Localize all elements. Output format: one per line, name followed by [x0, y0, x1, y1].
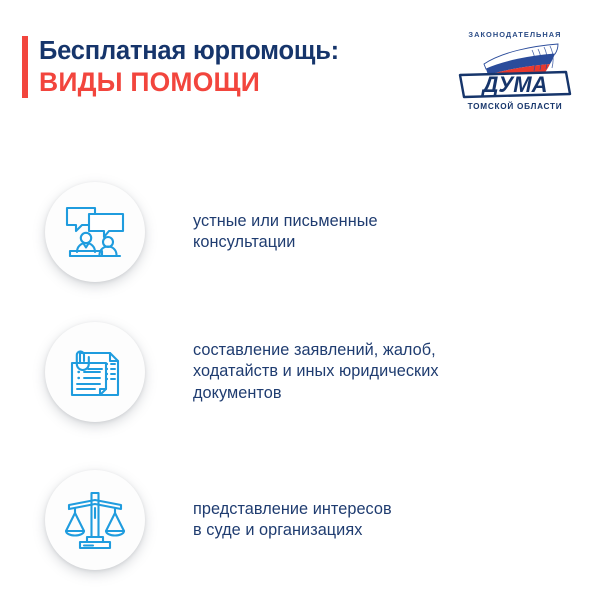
title-line-primary: Бесплатная юрпомощь:: [39, 36, 339, 67]
documents-paperclip-icon: [64, 341, 126, 403]
list-item-line: составление заявлений, жалоб,: [193, 340, 439, 362]
list-item-line: документов: [193, 383, 439, 405]
title-accent-bar: [22, 36, 28, 98]
icon-badge: [45, 470, 145, 570]
logo-wordmark-svg: ДУМА: [454, 42, 576, 100]
list-item-text: составление заявлений, жалоб, ходатайств…: [193, 340, 439, 405]
infographic-poster: Бесплатная юрпомощь: ВИДЫ ПОМОЩИ ЗАКОНОД…: [0, 0, 600, 600]
list-item-line: консультации: [193, 232, 378, 254]
page-title: Бесплатная юрпомощь: ВИДЫ ПОМОЩИ: [22, 36, 339, 98]
duma-wordmark-text: ДУМА: [460, 72, 570, 97]
logo-top-text: ЗАКОНОДАТЕЛЬНАЯ: [454, 30, 576, 40]
duma-logo: ЗАКОНОДАТЕЛЬНАЯ: [454, 30, 576, 122]
list-item-line: представление интересов: [193, 499, 392, 521]
list-item: представление интересов в суде и организ…: [0, 460, 600, 580]
list-item-line: в суде и организациях: [193, 520, 392, 542]
speech-bubbles-people-icon: [63, 200, 127, 264]
list-item: устные или письменные консультации: [0, 172, 600, 292]
icon-badge: [45, 182, 145, 282]
list-item-line: ходатайств и иных юридических: [193, 361, 439, 383]
icon-badge: [45, 322, 145, 422]
list-item-text: представление интересов в суде и организ…: [193, 499, 392, 542]
logo-wordmark-graphic: ДУМА: [454, 42, 576, 100]
list-item: составление заявлений, жалоб, ходатайств…: [0, 312, 600, 432]
logo-bottom-text: ТОМСКОЙ ОБЛАСТИ: [454, 101, 576, 112]
scales-of-justice-icon: [63, 488, 127, 552]
list-item-text: устные или письменные консультации: [193, 211, 378, 254]
list-item-line: устные или письменные: [193, 211, 378, 233]
title-lines: Бесплатная юрпомощь: ВИДЫ ПОМОЩИ: [39, 36, 339, 98]
svg-text:ДУМА: ДУМА: [480, 72, 547, 97]
benefits-list: устные или письменные консультации: [0, 170, 600, 580]
title-line-secondary: ВИДЫ ПОМОЩИ: [39, 67, 339, 98]
header: Бесплатная юрпомощь: ВИДЫ ПОМОЩИ ЗАКОНОД…: [0, 0, 600, 150]
